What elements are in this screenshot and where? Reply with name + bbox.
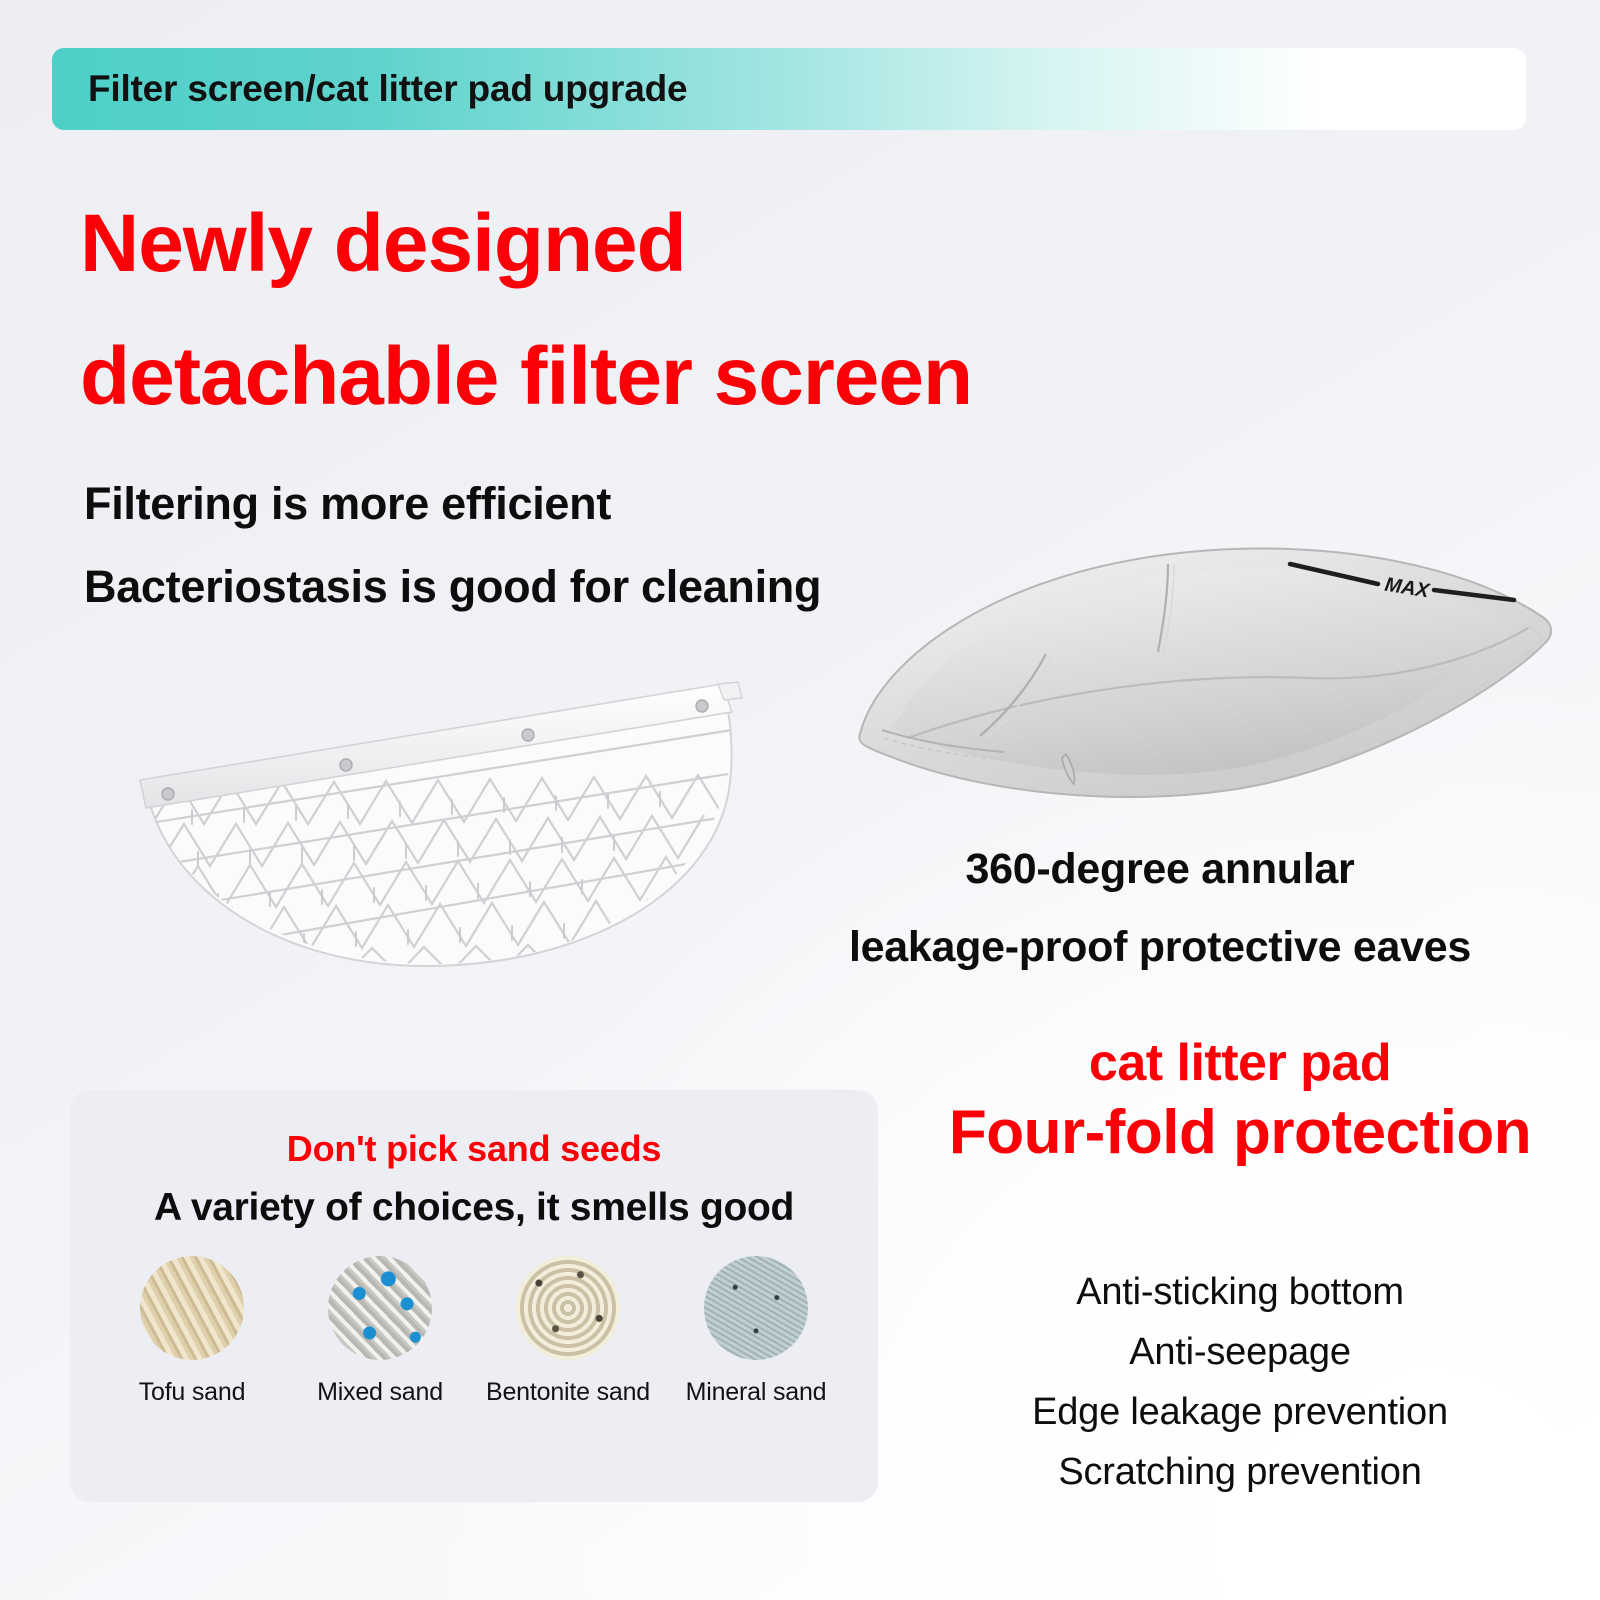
sand-options-panel: Don't pick sand seeds A variety of choic… [70,1090,878,1502]
eaves-line-2: leakage-proof protective eaves [790,908,1530,986]
eaves-line-1: 360-degree annular [790,830,1530,908]
benefit-item: Anti-seepage [940,1322,1540,1382]
filter-screen-graphic [132,664,752,984]
sand-option-label: Tofu sand [139,1378,246,1407]
sand-option-bentonite[interactable]: Bentonite sand [484,1256,652,1407]
benefit-item: Anti-sticking bottom [940,1262,1540,1322]
sand-swatch-row: Tofu sand Mixed sand Bentonite sand Mine… [70,1256,878,1407]
mixed-sand-swatch [328,1256,432,1360]
mineral-sand-swatch [704,1256,808,1360]
pad-title-line-2: Four-fold protection [900,1095,1580,1172]
sand-option-label: Bentonite sand [486,1378,650,1407]
sand-panel-subheading: A variety of choices, it smells good [70,1186,878,1230]
benefit-list: Anti-sticking bottom Anti-seepage Edge l… [940,1262,1540,1502]
sand-option-label: Mineral sand [686,1378,827,1407]
sand-option-mixed[interactable]: Mixed sand [296,1256,464,1407]
tofu-sand-swatch [140,1256,244,1360]
filter-screen-image [132,664,752,984]
sand-option-mineral[interactable]: Mineral sand [672,1256,840,1407]
product-infographic-page: Filter screen/cat litter pad upgrade New… [0,0,1600,1600]
header-banner: Filter screen/cat litter pad upgrade [52,48,1526,130]
banner-title: Filter screen/cat litter pad upgrade [88,68,687,110]
sand-option-tofu[interactable]: Tofu sand [108,1256,276,1407]
headline-line-1: Newly designed [80,178,1040,311]
sand-option-label: Mixed sand [317,1378,443,1407]
eaves-description: 360-degree annular leakage-proof protect… [790,830,1530,987]
main-headline: Newly designed detachable filter screen [80,178,1040,444]
litter-pad-graphic: MAX [838,522,1568,812]
sand-panel-heading: Don't pick sand seeds [70,1128,878,1170]
benefit-item: Scratching prevention [940,1442,1540,1502]
headline-line-2: detachable filter screen [80,311,1040,444]
bentonite-sand-swatch [516,1256,620,1360]
benefit-item: Edge leakage prevention [940,1382,1540,1442]
pad-title-line-1: cat litter pad [900,1032,1580,1095]
cat-litter-pad-image: MAX [838,522,1568,812]
pad-title-block: cat litter pad Four-fold protection [900,1032,1580,1172]
